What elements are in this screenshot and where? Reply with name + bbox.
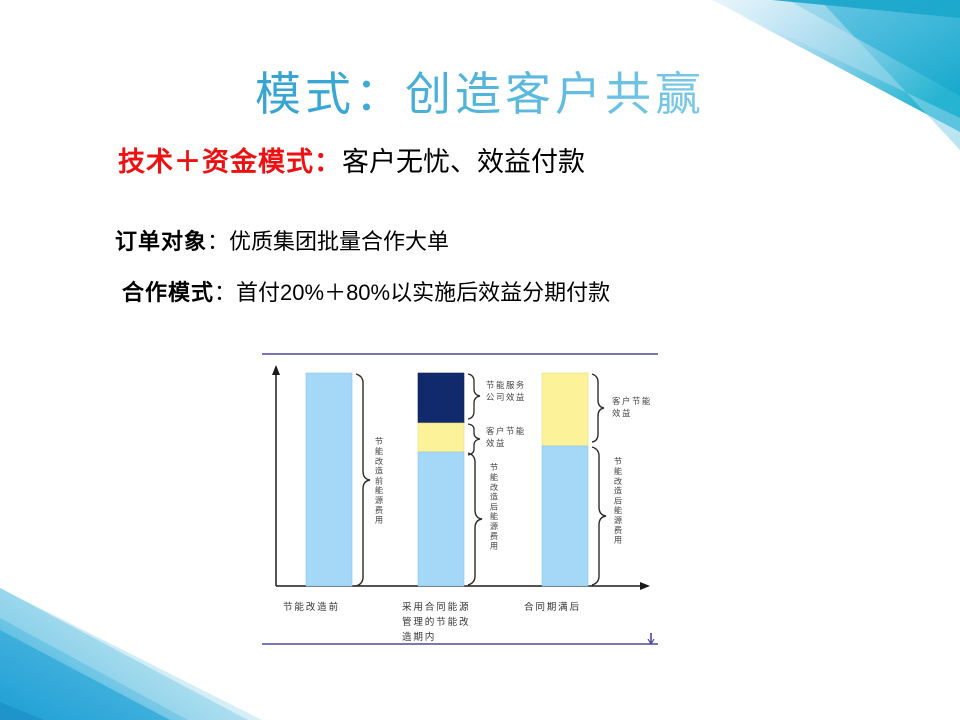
esco-benefit-chart: 节能改造前能源费用 节能服务 公司效益 客户节能 效益 节能改造后能源费用 客户… bbox=[250, 345, 670, 657]
bar3-brace-energy-after bbox=[592, 447, 606, 585]
x-axis-arrow bbox=[640, 582, 650, 590]
bar3-segment-client-saving bbox=[542, 373, 588, 446]
x-label-cat2-line2: 管理的节能改 bbox=[402, 616, 470, 628]
bar2-segment-energy-cost-after bbox=[418, 452, 464, 586]
bar2-segment-sesco-profit bbox=[418, 373, 464, 423]
bar2-label-sesco-line2: 公司效益 bbox=[486, 392, 526, 402]
bar1-brace bbox=[356, 374, 370, 586]
bar2-brace-sesco bbox=[468, 374, 480, 419]
bullet-line-1: 订单对象：优质集团批量合作大单 bbox=[115, 224, 449, 256]
highlight-line: 技术＋资金模式：客户无忧、效益付款 bbox=[118, 145, 585, 179]
bar1-segment-energy-cost-before bbox=[306, 373, 352, 586]
bullet-1-text: 优质集团批量合作大单 bbox=[229, 229, 449, 254]
bar2-label-client-line2: 效益 bbox=[486, 438, 506, 448]
bar3-brace-client bbox=[592, 374, 604, 442]
x-label-cat1: 节能改造前 bbox=[283, 601, 340, 613]
bar3-label-client-line1: 客户节能 bbox=[612, 396, 652, 406]
x-label-cat2-line1: 采用合同能源 bbox=[402, 601, 470, 613]
page-title: 模式：创造客户共赢 bbox=[0, 58, 960, 124]
x-label-cat2-line3: 造期内 bbox=[402, 631, 436, 643]
bar2-label-client-line1: 客户节能 bbox=[486, 426, 526, 436]
bar2-brace-client bbox=[468, 424, 480, 455]
bullet-2-text: 首付20%＋80%以实施后效益分期付款 bbox=[236, 280, 610, 305]
y-axis-arrow bbox=[272, 365, 280, 375]
bar3-segment-energy-cost-after bbox=[542, 446, 588, 586]
bullet-1-separator: ： bbox=[207, 229, 229, 254]
highlight-black-text: 客户无忧、效益付款 bbox=[342, 147, 585, 177]
bar2-segment-client-saving bbox=[418, 423, 464, 452]
bullet-2-label: 合作模式 bbox=[122, 280, 214, 305]
bullet-1-label: 订单对象 bbox=[115, 229, 207, 254]
bullet-line-2: 合作模式：首付20%＋80%以实施后效益分期付款 bbox=[122, 275, 610, 307]
bar2-brace-energy-after bbox=[468, 453, 482, 585]
x-label-cat3: 合同期满后 bbox=[524, 601, 581, 613]
bullet-2-separator: ： bbox=[214, 280, 236, 305]
bar1-brace-label: 节能改造前能源费用 bbox=[374, 437, 384, 525]
bar2-label-energy-after: 节能改造后能源费用 bbox=[489, 463, 499, 551]
bar3-label-energy-after: 节能改造后能源费用 bbox=[613, 457, 623, 545]
bar2-label-sesco-line1: 节能服务 bbox=[486, 380, 526, 390]
bar3-label-client-line2: 效益 bbox=[612, 408, 632, 418]
highlight-red-text: 技术＋资金模式： bbox=[118, 147, 342, 177]
